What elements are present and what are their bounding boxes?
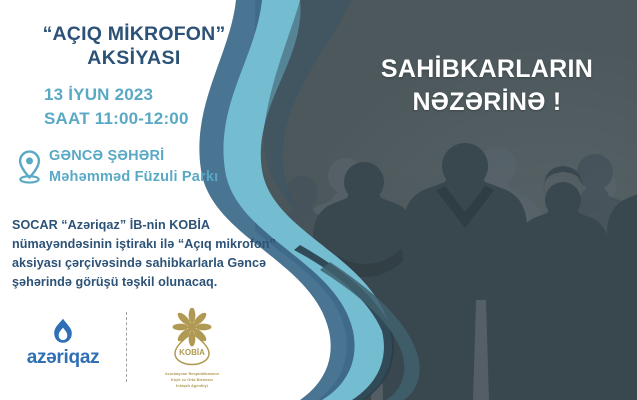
event-time: SAAT 11:00-12:00: [44, 107, 189, 131]
kobia-subtitle-line-3: İnkişafı Agentliyi: [144, 383, 240, 389]
location-pin-icon: [18, 150, 41, 184]
kobia-acronym: KOBİA: [179, 348, 205, 357]
event-location: GƏNCƏ ŞƏHƏRİ Məhəmməd Füzuli Parkı: [18, 146, 218, 188]
title-line-2: AKSİYASI: [14, 46, 254, 70]
logo-dashed-divider: [126, 312, 127, 382]
azeriqaz-logo: azəriqaz: [20, 318, 106, 367]
location-city: GƏNCƏ ŞƏHƏRİ: [49, 148, 164, 164]
event-datetime: 13 İYUN 2023 SAAT 11:00-12:00: [44, 83, 189, 131]
main-headline: SAHİBKARLARIN NƏZƏRİNƏ !: [352, 53, 622, 119]
event-description: SOCAR “Azəriqaz” İB-nin KOBİA nümayəndəs…: [12, 216, 254, 292]
kobia-flower-icon: KOBİA: [160, 308, 224, 370]
event-title: “AÇIQ MİKROFON” AKSİYASI: [14, 22, 254, 70]
gas-flame-icon: [50, 318, 76, 346]
headline-line-2: NƏZƏRİNƏ !: [352, 86, 622, 119]
kobia-subtitle: Azərbaycan Respublikasının Kiçik və Orta…: [144, 371, 240, 388]
logo-row: azəriqaz: [16, 312, 246, 392]
event-date: 13 İYUN 2023: [44, 83, 189, 107]
description-line-2: nümayəndəsinin iştirakı ilə “Açıq mikrof…: [12, 235, 254, 254]
azeriqaz-wordmark: azəriqaz: [20, 348, 106, 367]
left-content-column: “AÇIQ MİKROFON” AKSİYASI 13 İYUN 2023 SA…: [0, 0, 262, 400]
kobia-logo: KOBİA Azərbaycan Respublikasının Kiçik v…: [144, 308, 240, 388]
description-line-1: SOCAR “Azəriqaz” İB-nin KOBİA: [12, 216, 254, 235]
description-line-4: şəhərində görüşü təşkil olunacaq.: [12, 273, 254, 292]
description-line-3: aksiyası çərçivəsində sahibkarlarla Gənc…: [12, 254, 254, 273]
title-line-1: “AÇIQ MİKROFON”: [14, 22, 254, 46]
headline-line-1: SAHİBKARLARIN: [352, 53, 622, 86]
location-text: GƏNCƏ ŞƏHƏRİ Məhəmməd Füzuli Parkı: [49, 146, 218, 188]
event-announcement-banner: “AÇIQ MİKROFON” AKSİYASI 13 İYUN 2023 SA…: [0, 0, 637, 400]
location-venue: Məhəmməd Füzuli Parkı: [49, 167, 218, 188]
